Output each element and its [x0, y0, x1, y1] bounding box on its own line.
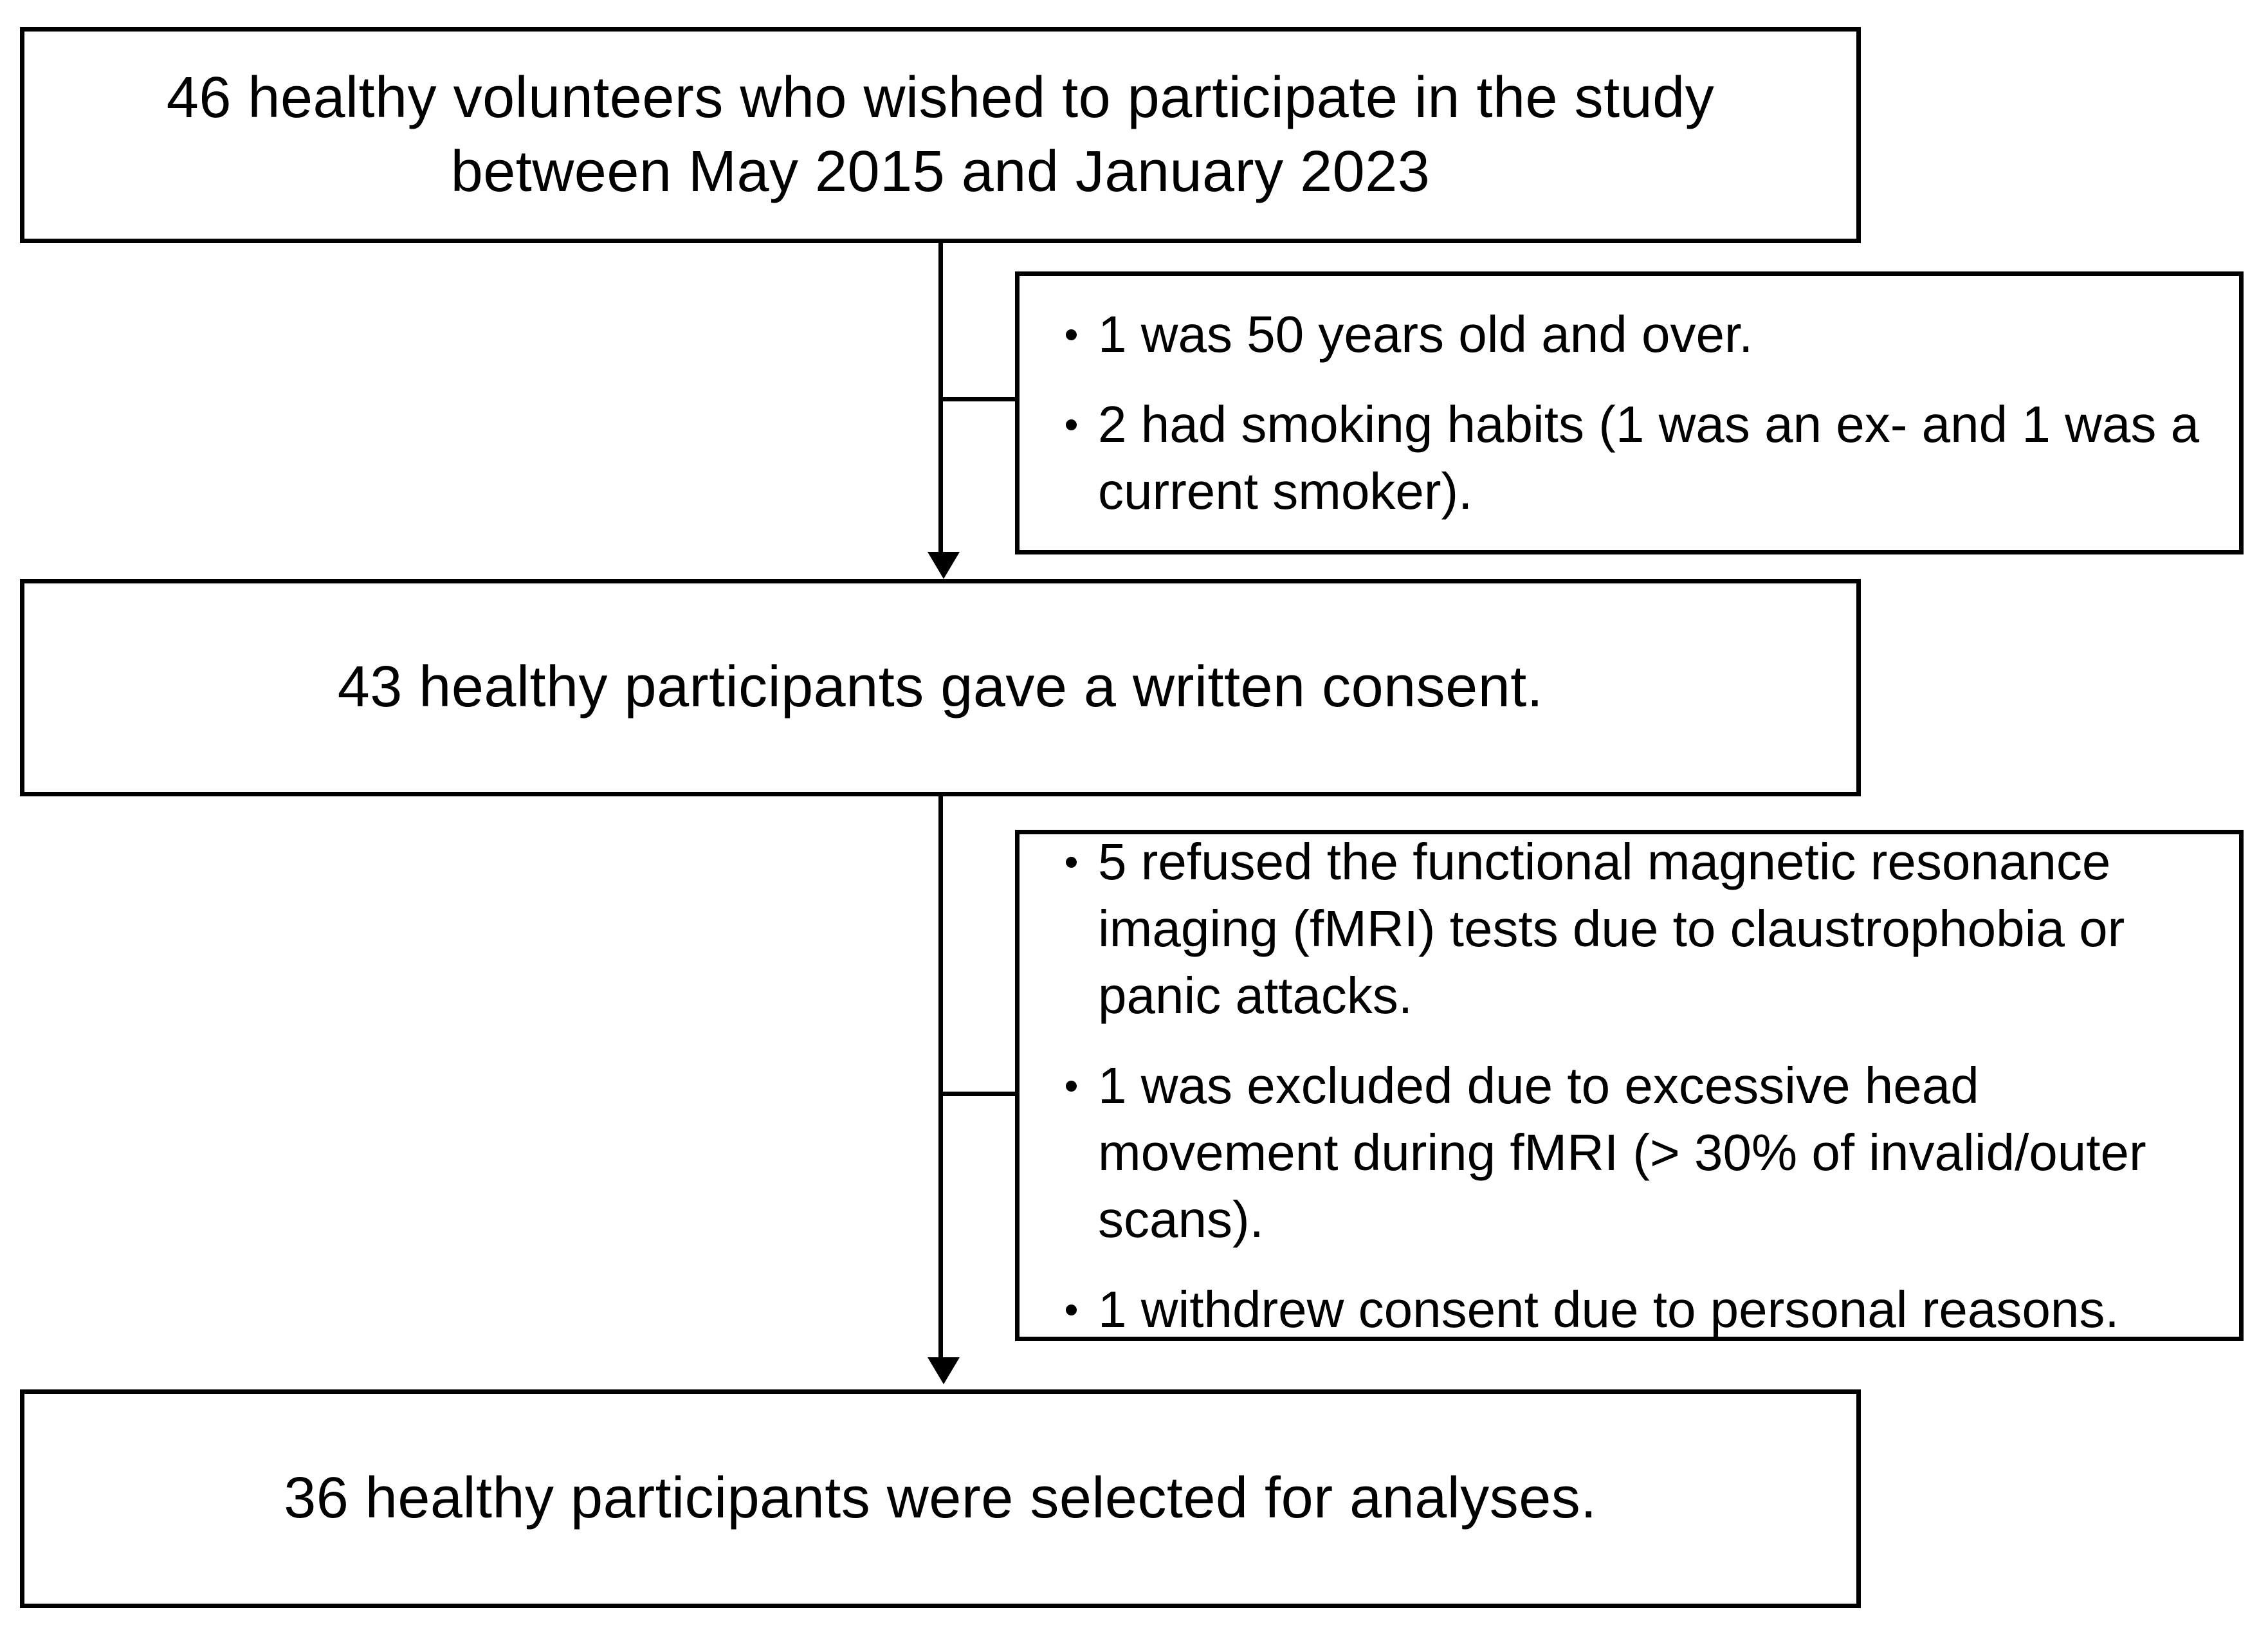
arrowhead-to-consent [928, 552, 960, 579]
box-analysed: 36 healthy participants were selected fo… [20, 1389, 1861, 1608]
list-item: 2 had smoking habits (1 was an ex- and 1… [1062, 391, 2203, 525]
list-item: 5 refused the functional magnetic resona… [1062, 829, 2203, 1029]
list-item: 1 was 50 years old and over. [1062, 301, 2203, 368]
list-item: 1 withdrew consent due to personal reaso… [1062, 1276, 2203, 1343]
arrowhead-to-analysed [928, 1357, 960, 1384]
list-item: 1 was excluded due to excessive head mov… [1062, 1052, 2203, 1253]
consent-text: 43 healthy participants gave a written c… [24, 650, 1856, 724]
box-enrollment: 46 healthy volunteers who wished to part… [20, 27, 1861, 243]
participant-flow-diagram: 46 healthy volunteers who wished to part… [0, 0, 2268, 1630]
box-consent: 43 healthy participants gave a written c… [20, 579, 1861, 796]
analysed-text: 36 healthy participants were selected fo… [24, 1461, 1856, 1535]
connector-consent-to-analysed [938, 796, 943, 1362]
enrollment-text: 46 healthy volunteers who wished to part… [24, 61, 1856, 209]
box-exclusion-screening: 1 was 50 years old and over. 2 had smoki… [1015, 271, 2244, 554]
connector-to-exclusion-screening [938, 397, 1019, 401]
connector-to-exclusion-fmri [938, 1092, 1019, 1096]
exclusion-fmri-list: 5 refused the functional magnetic resona… [1020, 829, 2239, 1343]
exclusion-screening-list: 1 was 50 years old and over. 2 had smoki… [1020, 301, 2239, 525]
box-exclusion-fmri: 5 refused the functional magnetic resona… [1015, 830, 2244, 1341]
